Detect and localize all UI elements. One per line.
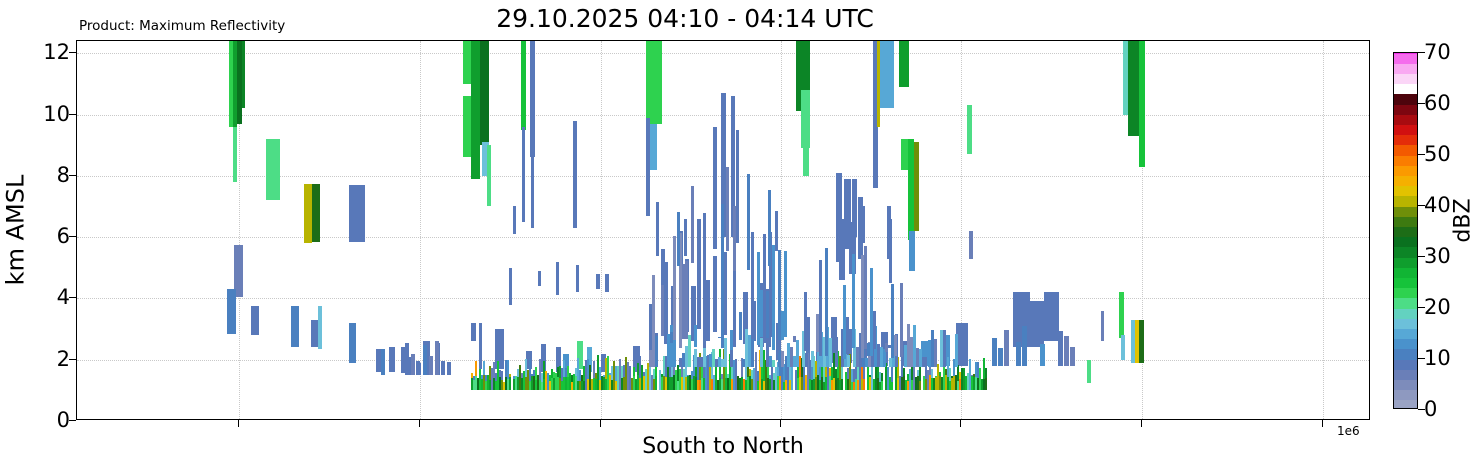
reflectivity-cell [688,335,691,368]
colorbar-band [1394,104,1417,115]
reflectivity-cell [605,379,607,390]
reflectivity-cell [847,355,850,367]
reflectivity-cell [864,246,867,349]
reflectivity-cell [998,348,1003,366]
reflectivity-cell [935,377,937,390]
y-tick-label: 4 [0,285,70,309]
colorbar-tick-mark [1418,256,1425,257]
reflectivity-cell [724,338,727,368]
reflectivity-cell [985,378,987,391]
reflectivity-cell [531,154,534,228]
reflectivity-cell [775,211,778,251]
reflectivity-cell [681,377,683,391]
colorbar-band [1394,247,1417,258]
x-tick-mark [419,420,420,427]
colorbar-band [1394,339,1417,350]
colorbar-tick-mark [1418,409,1425,410]
reflectivity-cell [863,379,865,390]
colorbar-band [1394,359,1417,370]
reflectivity-cell [891,382,893,391]
reflectivity-cell [772,245,775,350]
colorbar-band [1394,288,1417,299]
reflectivity-cell [805,375,807,390]
y-tick-mark [69,420,76,421]
reflectivity-cell [571,382,573,391]
reflectivity-cell [349,323,356,363]
reflectivity-cell [811,351,814,367]
x-tick-mark [780,420,781,427]
reflectivity-cell [881,381,883,390]
reflectivity-cell [965,376,967,390]
reflectivity-cell [885,380,887,390]
reflectivity-cell [1058,331,1063,365]
reflectivity-cell [992,338,997,366]
colorbar [1393,52,1418,409]
reflectivity-cell [349,185,365,242]
reflectivity-cell [839,219,845,280]
reflectivity-cell [673,236,676,340]
reflectivity-cell [251,306,259,335]
reflectivity-cell [703,378,705,390]
reflectivity-cell [487,145,491,206]
reflectivity-cell [769,379,771,390]
reflectivity-cell [793,336,796,342]
colorbar-band [1394,318,1417,329]
reflectivity-cell [897,378,899,390]
reflectivity-cell [1044,292,1059,341]
reflectivity-cell [934,339,937,368]
reflectivity-cell [471,323,476,341]
reflectivity-cell [655,334,658,367]
reflectivity-cell [1022,326,1027,366]
reflectivity-cell [513,206,516,234]
reflectivity-cell [649,124,657,170]
reflectivity-cell [1139,320,1144,363]
colorbar-band [1394,328,1417,339]
reflectivity-cell [615,381,617,390]
colorbar-band [1394,267,1417,278]
reflectivity-cell [825,377,827,390]
x-tick-mark [600,420,601,427]
reflectivity-cell [900,283,903,357]
reflectivity-cell [726,167,729,251]
colorbar-tick-label: 0 [1424,397,1437,421]
reflectivity-cell [485,381,487,390]
reflectivity-cell [751,232,754,340]
y-tick-label: 2 [0,347,70,371]
reflectivity-cell [587,379,589,390]
reflectivity-cell [381,349,385,375]
reflectivity-cell [909,231,915,271]
reflectivity-cell [922,357,925,367]
reflectivity-cell [873,311,876,350]
reflectivity-cell [967,105,972,154]
reflectivity-cell [829,338,832,368]
reflectivity-cell [318,306,322,349]
colorbar-tick-mark [1418,358,1425,359]
y-tick-mark [69,175,76,176]
reflectivity-cell [573,121,577,228]
reflectivity-cell [697,219,701,329]
y-tick-mark [69,359,76,360]
reflectivity-cell [857,380,859,390]
reflectivity-cell [530,41,535,157]
colorbar-band [1394,226,1417,237]
colorbar-band [1394,298,1417,309]
colorbar-band [1394,216,1417,227]
colorbar-band [1394,145,1417,156]
reflectivity-cell [227,289,236,333]
colorbar-tick-mark [1418,205,1425,206]
reflectivity-cell [576,265,579,293]
reflectivity-cell [266,139,280,200]
colorbar-band [1394,155,1417,166]
reflectivity-cell [1070,347,1075,366]
reflectivity-cell [509,377,511,390]
reflectivity-cell [677,212,680,266]
y-tick-mark [69,236,76,237]
radar-cross-section-figure: 29.10.2025 04:10 - 04:14 UTC Product: Ma… [0,0,1482,470]
colorbar-band [1394,369,1417,380]
reflectivity-cell [423,345,427,375]
reflectivity-cell [711,379,713,391]
colorbar-label: dBZ [1446,175,1480,265]
reflectivity-cell [291,306,299,347]
reflectivity-cell [846,317,849,354]
reflectivity-cell [311,320,318,348]
reflectivity-cell [835,337,838,367]
reflectivity-cell [623,377,625,390]
x-tick-mark [1141,420,1142,427]
reflectivity-cell [242,41,245,108]
colorbar-band [1394,165,1417,176]
reflectivity-cell [495,381,497,390]
reflectivity-cell [479,323,482,369]
colorbar-band [1394,94,1417,105]
reflectivity-cell [1004,330,1009,366]
reflectivity-cell [784,251,787,337]
reflectivity-cell [405,343,409,375]
reflectivity-cell [785,380,787,390]
reflectivity-cell [977,378,979,390]
reflectivity-cell [899,41,909,87]
colorbar-tick-mark [1418,307,1425,308]
colorbar-tick-mark [1418,103,1425,104]
reflectivity-cell [583,381,585,391]
x-tick-mark [238,420,239,427]
reflectivity-cell [873,379,875,391]
reflectivity-cell [721,379,723,390]
colorbar-band [1394,186,1417,197]
colorbar-band [1394,390,1417,401]
colorbar-band [1394,63,1417,74]
reflectivity-cell [959,379,961,390]
reflectivity-cell [694,325,697,347]
reflectivity-cell [535,380,537,390]
plot-area [76,40,1370,420]
x-axis-exponent: 1e6 [1337,424,1360,438]
reflectivity-cell [880,41,894,108]
colorbar-band [1394,379,1417,390]
reflectivity-cell [646,118,650,216]
colorbar-band [1394,308,1417,319]
reflectivity-cell [941,377,943,391]
colorbar-tick-label: 20 [1424,295,1451,319]
reflectivity-cell [661,285,664,336]
reflectivity-cell [781,351,784,367]
colorbar-tick-mark [1418,154,1425,155]
reflectivity-cell [969,231,973,259]
reflectivity-cell [429,356,433,375]
reflectivity-cell [914,142,919,231]
reflectivity-cell [731,379,733,391]
colorbar-band [1394,84,1417,95]
reflectivity-cell [417,363,421,375]
reflectivity-cell [1101,311,1104,342]
reflectivity-cell [477,378,479,390]
reflectivity-cell [747,174,750,271]
reflectivity-cell [521,378,523,391]
reflectivity-cell [673,375,675,390]
product-label: Product: Maximum Reflectivity [79,18,285,34]
y-tick-label: 8 [0,163,70,187]
reflectivity-cell [664,262,668,345]
y-tick-label: 0 [0,408,70,432]
x-axis-label: South to North [76,434,1370,459]
reflectivity-cell [599,380,601,391]
reflectivity-cell [447,362,451,375]
colorbar-band [1394,73,1417,84]
reflectivity-cell [1016,342,1021,366]
colorbar-label-text: dBZ [1451,198,1476,242]
reflectivity-cell [703,347,706,367]
reflectivity-cell [463,41,471,84]
reflectivity-cell [389,347,395,372]
reflectivity-cell [751,379,753,390]
reflectivity-cell [861,206,865,243]
colorbar-band [1394,53,1417,64]
y-tick-mark [69,297,76,298]
reflectivity-cell [435,341,439,375]
colorbar-band [1394,135,1417,146]
reflectivity-cell [411,354,415,376]
reflectivity-cell [538,271,541,286]
reflectivity-data-layer [77,41,1369,419]
reflectivity-cell [471,41,480,179]
reflectivity-cell [525,377,527,390]
reflectivity-cell [652,275,655,336]
reflectivity-cell [805,353,808,367]
reflectivity-cell [796,340,799,367]
reflectivity-cell [596,274,600,289]
reflectivity-cell [441,361,445,375]
reflectivity-cell [772,360,775,368]
colorbar-band [1394,400,1417,409]
reflectivity-cell [1064,336,1069,366]
reflectivity-cell [733,206,736,272]
reflectivity-cell [757,381,759,390]
reflectivity-cell [522,127,525,222]
reflectivity-cell [605,274,609,292]
reflectivity-cell [312,184,320,242]
colorbar-band [1394,53,1417,54]
reflectivity-cell [803,145,809,176]
reflectivity-cell [736,130,739,243]
reflectivity-cell [1119,292,1124,338]
colorbar-band [1394,124,1417,135]
reflectivity-cell [691,186,694,263]
colorbar-band [1394,349,1417,360]
reflectivity-cell [1030,301,1044,347]
reflectivity-cell [643,376,645,390]
reflectivity-cell [1139,41,1145,167]
reflectivity-cell [1121,335,1125,360]
reflectivity-cell [911,380,913,391]
reflectivity-cell [869,377,871,391]
colorbar-tick-mark [1418,52,1425,53]
reflectivity-cell [773,380,775,390]
reflectivity-cell [304,184,312,244]
reflectivity-cell [789,380,791,390]
reflectivity-cell [1040,344,1045,366]
reflectivity-cell [489,380,491,390]
reflectivity-cell [521,41,526,130]
reflectivity-cell [763,381,765,390]
reflectivity-cell [925,379,927,391]
reflectivity-cell [955,334,958,368]
y-tick-label: 12 [0,40,70,64]
reflectivity-cell [825,248,828,356]
reflectivity-cell [894,335,897,356]
reflectivity-cell [852,254,855,348]
colorbar-tick-label: 70 [1424,40,1451,64]
reflectivity-cell [703,213,706,348]
reflectivity-cell [727,378,729,390]
reflectivity-cell [543,379,545,390]
x-tick-mark [1322,420,1323,427]
colorbar-band [1394,114,1417,125]
reflectivity-cell [768,190,771,266]
colorbar-band [1394,277,1417,288]
reflectivity-cell [646,41,662,124]
reflectivity-cell [556,262,559,296]
y-tick-label: 10 [0,102,70,126]
reflectivity-cell [639,378,641,391]
reflectivity-cell [517,377,519,391]
reflectivity-cell [739,312,742,340]
colorbar-band [1394,196,1417,207]
y-tick-label: 6 [0,224,70,248]
reflectivity-cell [804,292,807,350]
reflectivity-cell [733,264,736,346]
colorbar-band [1394,206,1417,217]
reflectivity-cell [567,377,569,390]
reflectivity-cell [801,377,803,391]
reflectivity-cell [684,219,687,257]
x-tick-mark [960,420,961,427]
colorbar-band [1394,175,1417,186]
reflectivity-cell [655,376,657,391]
reflectivity-cell [841,379,843,391]
colorbar-tick-label: 10 [1424,346,1451,370]
reflectivity-cell [233,127,237,182]
reflectivity-cell [463,96,471,157]
reflectivity-cell [889,219,892,283]
reflectivity-cell [685,261,688,338]
reflectivity-cell [611,380,613,390]
reflectivity-cell [509,268,512,305]
colorbar-tick-label: 50 [1424,142,1451,166]
reflectivity-cell [480,41,489,145]
colorbar-band [1394,257,1417,268]
reflectivity-cell [713,256,717,333]
reflectivity-cell [819,260,822,357]
reflectivity-cell [901,139,908,170]
reflectivity-cell [713,127,717,250]
reflectivity-cell [553,378,555,390]
reflectivity-cell [953,376,955,390]
reflectivity-cell [801,90,810,148]
colorbar-tick-label: 60 [1424,91,1451,115]
reflectivity-cell [907,381,909,391]
reflectivity-cell [677,381,679,391]
y-tick-mark [69,52,76,53]
y-tick-mark [69,114,76,115]
colorbar-band [1394,237,1417,248]
reflectivity-cell [655,333,658,336]
reflectivity-cell [1087,360,1091,383]
reflectivity-cell [656,202,659,255]
reflectivity-cell [673,339,676,368]
reflectivity-cell [665,377,667,391]
reflectivity-cell [943,330,946,368]
reflectivity-cell [779,376,781,390]
reflectivity-cell [919,381,921,391]
reflectivity-cell [721,204,724,348]
